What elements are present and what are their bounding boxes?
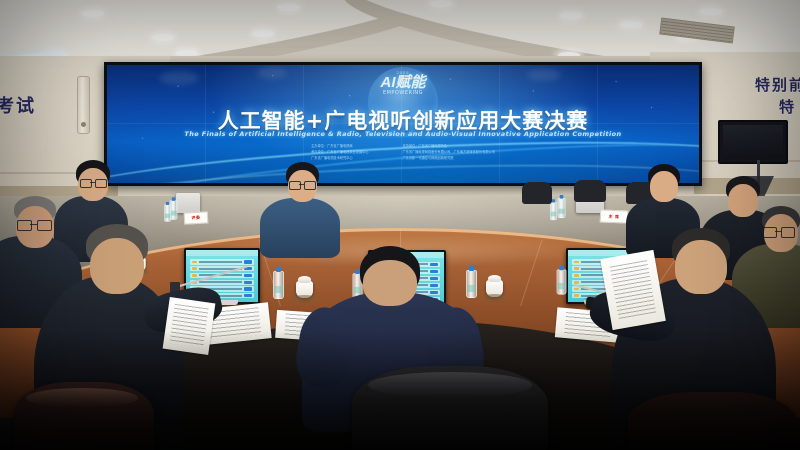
eyeglasses [781, 227, 795, 238]
led-glare [257, 67, 287, 79]
led-panel-seam-h [107, 123, 699, 124]
led-logo-sub: EMPOWERING [380, 91, 425, 96]
eyeglasses [37, 220, 52, 231]
chair-highlight-left [26, 388, 138, 408]
eyeglasses [80, 179, 92, 188]
back-water-bottle [164, 204, 171, 221]
eyeglasses [304, 181, 316, 190]
led-panel-seam [597, 65, 598, 183]
water-bottle-right[interactable] [557, 269, 567, 294]
head [650, 171, 678, 202]
held-document-left[interactable] [163, 297, 216, 355]
eyeglasses [17, 220, 32, 231]
eyeglasses [289, 181, 301, 190]
document-text-lines [170, 304, 208, 348]
head [363, 260, 417, 306]
led-logo-main: AI赋能 [380, 75, 425, 90]
led-panel-seam [499, 65, 500, 183]
ceiling-downlight [82, 10, 104, 17]
led-screen-surface: 2025 AI赋能 EMPOWERING 人工智能+广电视听创新应用大赛决赛 T… [107, 65, 699, 183]
eyeglasses [763, 227, 777, 238]
back-chair [574, 180, 606, 202]
ceiling-downlight [278, 4, 300, 11]
led-glare [159, 71, 199, 85]
side-monitor [718, 120, 788, 164]
ceiling-downlight [560, 12, 582, 19]
screen-list-row[interactable] [190, 259, 253, 264]
led-video-wall: 2025 AI赋能 EMPOWERING 人工智能+广电视听创新应用大赛决赛 T… [104, 62, 702, 186]
conference-room-photo: 考试 特别前 特 2025 AI赋能 EMPOWERING 人工智能+广电视听创… [0, 0, 800, 450]
ceiling-downlight [700, 8, 722, 15]
head [675, 240, 727, 294]
ceiling-downlight [430, 0, 452, 7]
wall-sign-right-line1: 特别前 [755, 74, 800, 95]
screen-topbar [186, 250, 258, 256]
led-glare [527, 69, 561, 81]
eyeglasses-bridge [90, 182, 95, 183]
ceiling-downlight [152, 34, 174, 41]
body [260, 198, 340, 258]
name-card-right: 主 席 [600, 210, 628, 224]
chair-right-foreground[interactable] [628, 392, 796, 450]
led-panel-seam [205, 65, 206, 183]
wall-speaker [77, 76, 90, 134]
tea-cup-center-right[interactable] [486, 280, 503, 297]
led-english-subtitle: The Finals of Artificial Intelligence & … [107, 130, 699, 138]
led-panel-seam [401, 65, 402, 183]
head [90, 238, 144, 294]
tea-cup-left[interactable] [296, 281, 313, 298]
wall-sign-left: 考试 [0, 92, 36, 118]
name-card-left-text: 评委 [191, 215, 200, 221]
head [728, 184, 758, 217]
eyeglasses-bridge [30, 224, 37, 225]
wall-sign-right-line2: 特 [779, 96, 796, 117]
water-bottle-center-right[interactable] [466, 270, 477, 298]
back-water-bottle [550, 202, 557, 220]
water-bottle-left[interactable] [273, 271, 284, 299]
document-text-lines [609, 260, 657, 321]
name-card-left: 评委 [184, 211, 209, 224]
name-card-right-text: 主 席 [608, 213, 619, 219]
back-water-bottle [558, 198, 566, 218]
back-chair [522, 182, 552, 204]
ceiling-downlight [252, 30, 274, 37]
eyeglasses [95, 179, 107, 188]
led-logo-block: 2025 AI赋能 EMPOWERING [380, 71, 425, 96]
back-laptop-left [176, 193, 200, 213]
ceiling-downlight [620, 21, 642, 28]
eyeglasses-bridge [299, 184, 304, 185]
eyeglasses-bridge [775, 231, 781, 232]
chair-highlight [368, 372, 532, 398]
